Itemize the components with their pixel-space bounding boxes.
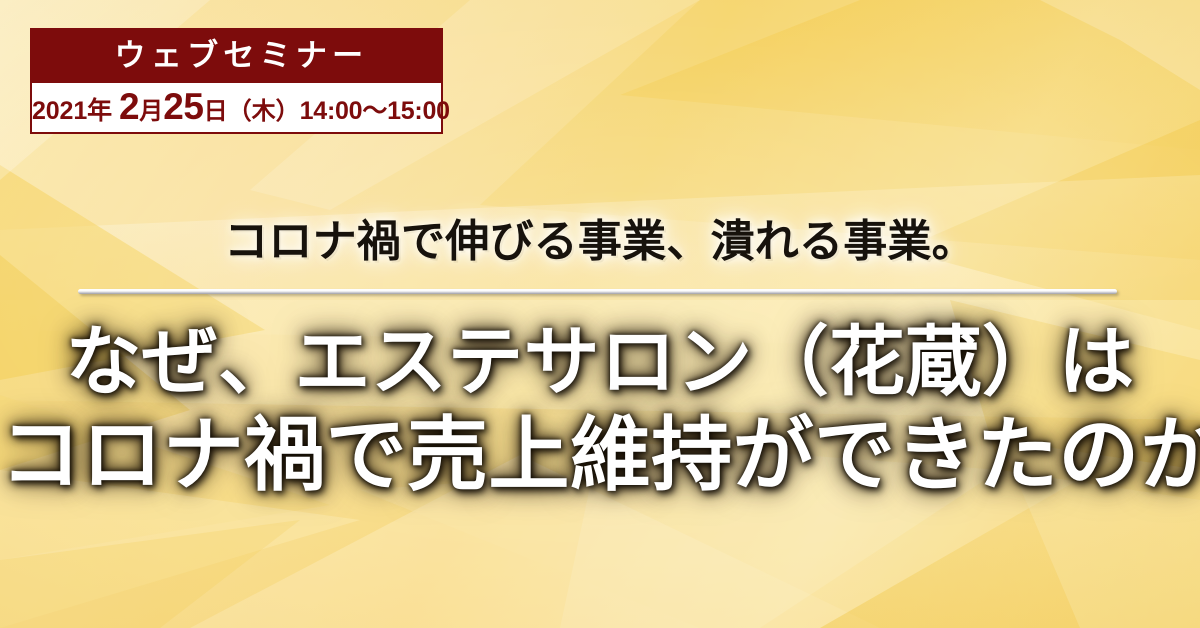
webinar-badge: ウェブセミナー 2021年2月25日（木）14:00〜15:00	[30, 28, 443, 134]
badge-heading: ウェブセミナー	[32, 30, 441, 83]
badge-date-year: 2021年	[32, 97, 112, 125]
badge-date: 2021年2月25日（木）14:00〜15:00	[32, 83, 441, 132]
divider	[78, 289, 1117, 296]
badge-date-time: 14:00〜15:00	[300, 97, 450, 125]
main-title-line-2: コロナ禍で売上維持ができたのか	[0, 408, 1200, 504]
main-title-line-1: なぜ、エステサロン（花蔵）は	[0, 318, 1200, 408]
badge-date-weekday: （木）	[228, 98, 300, 125]
badge-date-day-unit: 日	[204, 98, 228, 125]
badge-date-month-number: 2	[119, 86, 139, 127]
webinar-banner: ウェブセミナー 2021年2月25日（木）14:00〜15:00 コロナ禍で伸び…	[0, 0, 1200, 628]
badge-date-day-number: 25	[163, 86, 203, 127]
divider-bar	[78, 289, 1117, 294]
badge-date-month-unit: 月	[139, 98, 163, 125]
subtitle: コロナ禍で伸びる事業、潰れる事業。	[0, 205, 1200, 269]
main-title: なぜ、エステサロン（花蔵）は コロナ禍で売上維持ができたのか	[0, 318, 1200, 505]
